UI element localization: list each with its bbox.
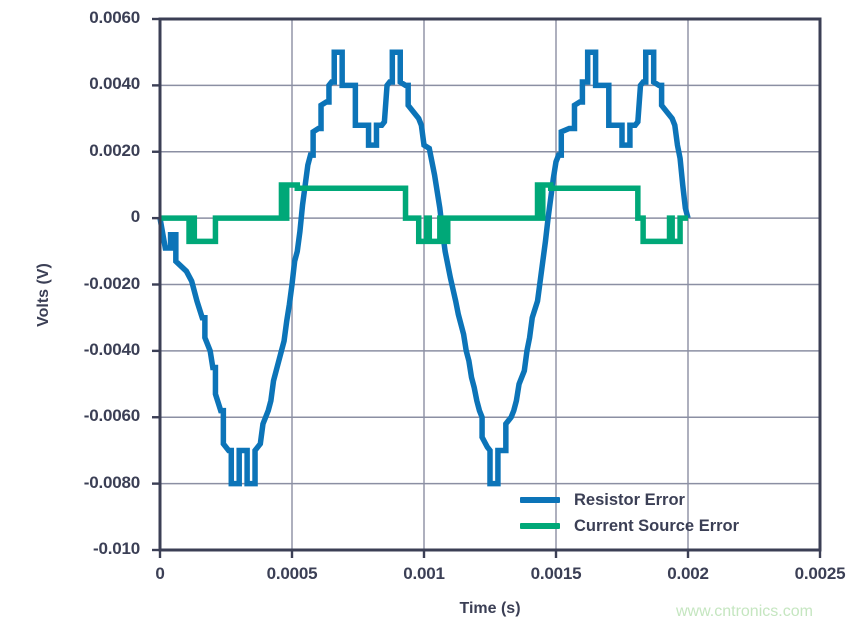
legend-swatch-resistor-error: [520, 497, 560, 503]
watermark: www.cntronics.com: [676, 603, 813, 621]
legend-label: Resistor Error: [574, 491, 685, 510]
legend-label: Current Source Error: [574, 517, 739, 536]
legend-swatch-current-source-error: [520, 523, 560, 529]
legend-item-current-source-error: Current Source Error: [520, 513, 820, 539]
chart-legend: Resistor Error Current Source Error: [520, 487, 820, 539]
legend-item-resistor-error: Resistor Error: [520, 487, 820, 513]
chart-container: Volts (V) 0.0060 0.0040 0.0020 0 -0.0020…: [0, 0, 861, 633]
